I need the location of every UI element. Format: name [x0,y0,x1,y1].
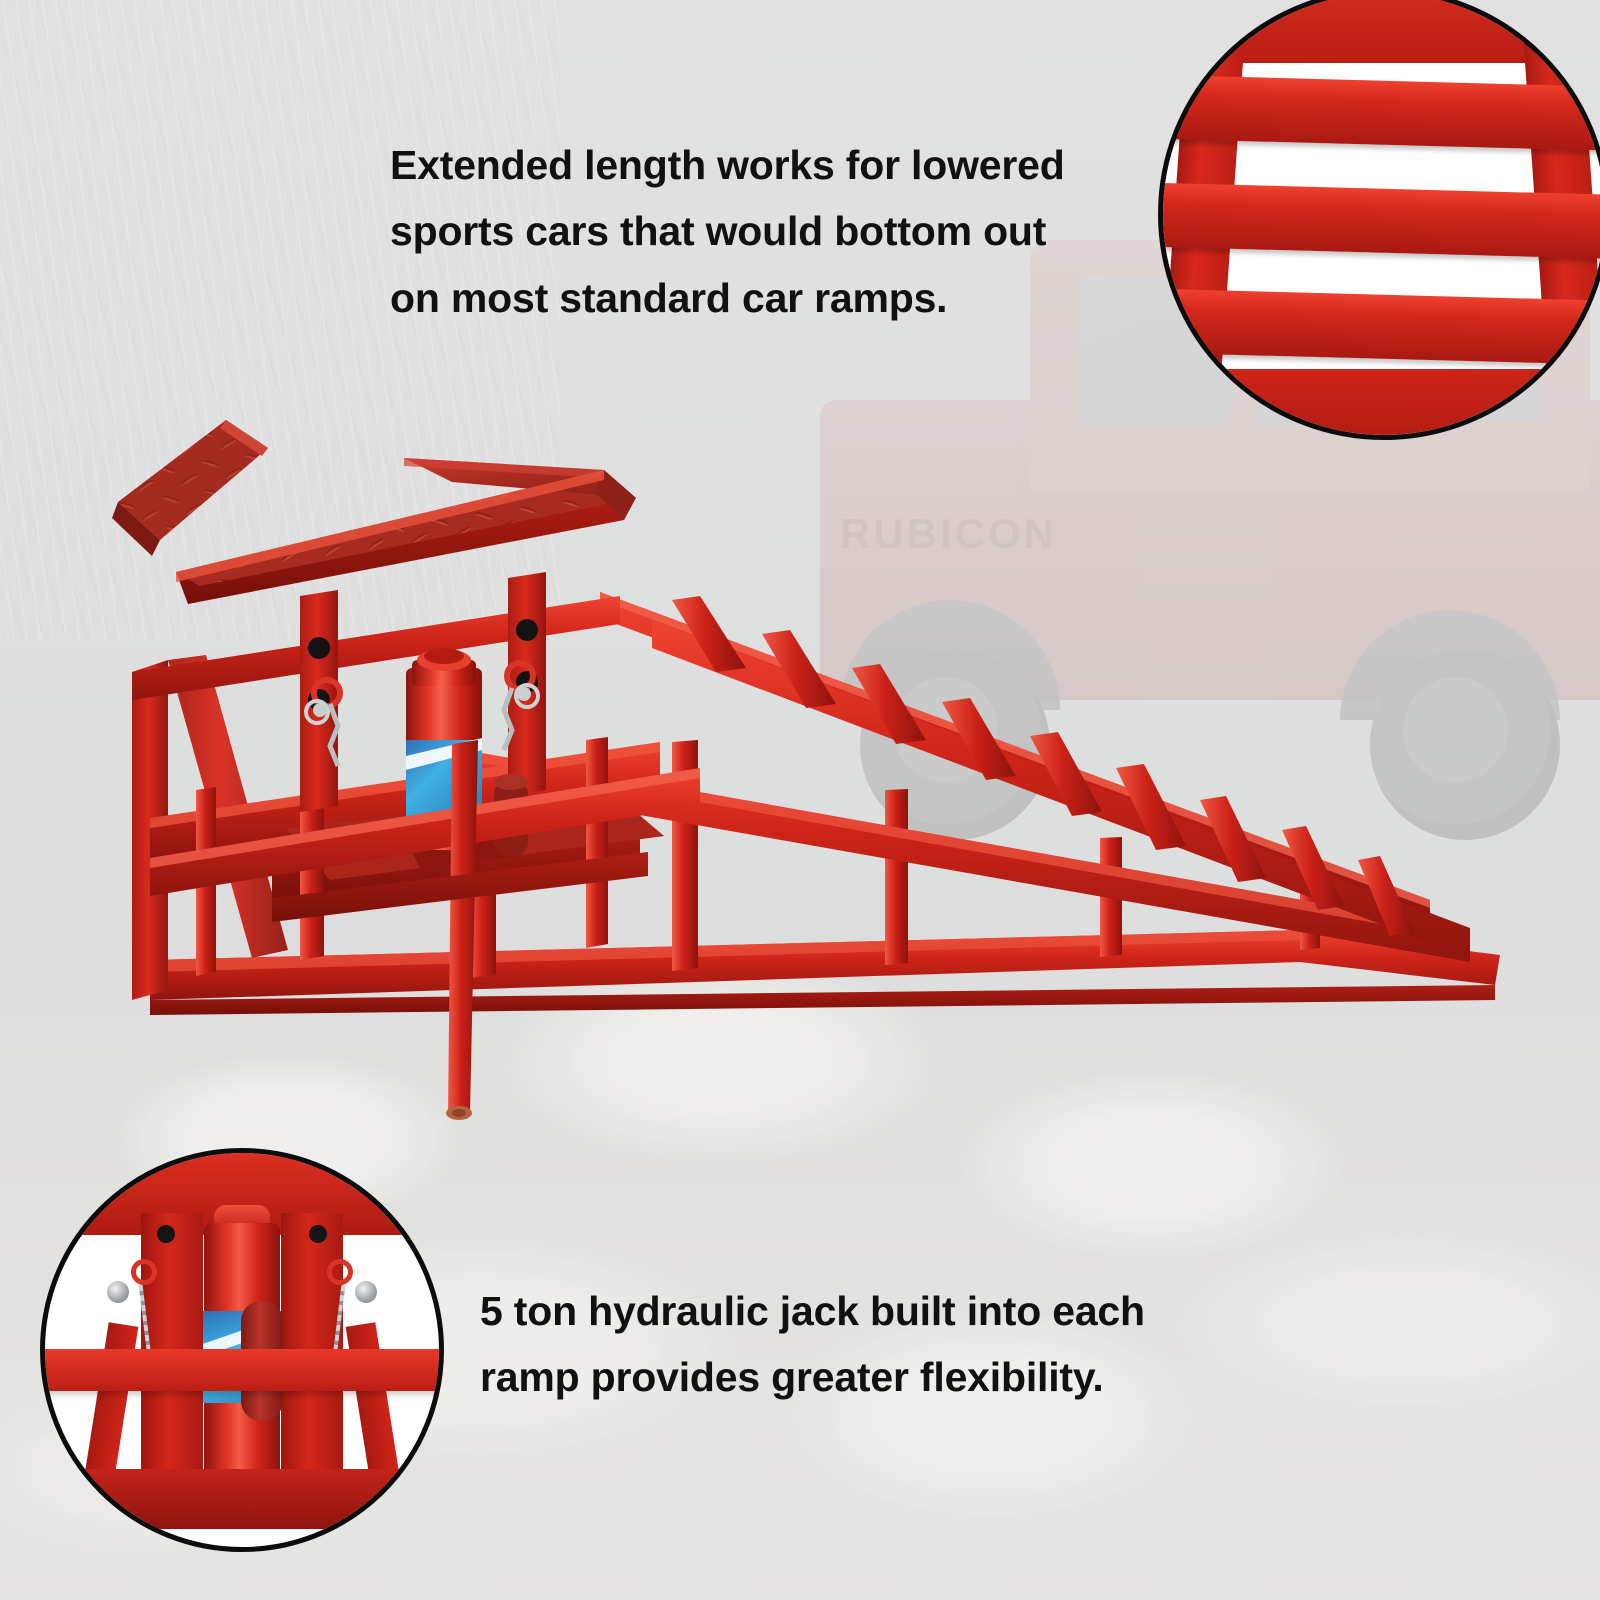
post-hole-left [157,1225,175,1243]
callout-hydraulic-jack-content: 5 TON [45,1153,439,1547]
headline-bottom: 5 ton hydraulic jack built into each ram… [480,1278,1220,1411]
pin-bolt-right [355,1281,377,1303]
headline-top: Extended length works for lowered sports… [390,132,1130,331]
rung-bar-3 [1158,288,1600,366]
post-hole-right [309,1225,327,1243]
headline-top-line-1: Extended length works for lowered [390,132,1130,198]
rungs-bottom-plate [1158,369,1600,440]
headline-bottom-line-2: ramp provides greater flexibility. [480,1344,1220,1410]
headline-bottom-line-1: 5 ton hydraulic jack built into each [480,1278,1220,1344]
platform-kickplate [112,420,268,556]
rung-bar-1 [1158,74,1600,152]
callout-ramp-rungs [1158,0,1600,440]
platform-top [176,458,636,604]
rung-bar-2 [1158,182,1600,260]
locking-pin-left [131,1259,157,1285]
jack-closeup-front-rail [40,1349,444,1391]
headline-top-line-2: sports cars that would bottom out [390,198,1130,264]
ramp-base-rail [150,930,1500,1015]
callout-hydraulic-jack: 5 TON [40,1148,444,1552]
callout-ramp-rungs-content [1163,0,1600,435]
pin-bolt-left [107,1281,129,1303]
jack-closeup-post-left [141,1213,203,1473]
jack-closeup-base-plate [85,1469,405,1529]
headline-top-line-3: on most standard car ramps. [390,265,1130,331]
locking-pin-right [327,1259,353,1285]
